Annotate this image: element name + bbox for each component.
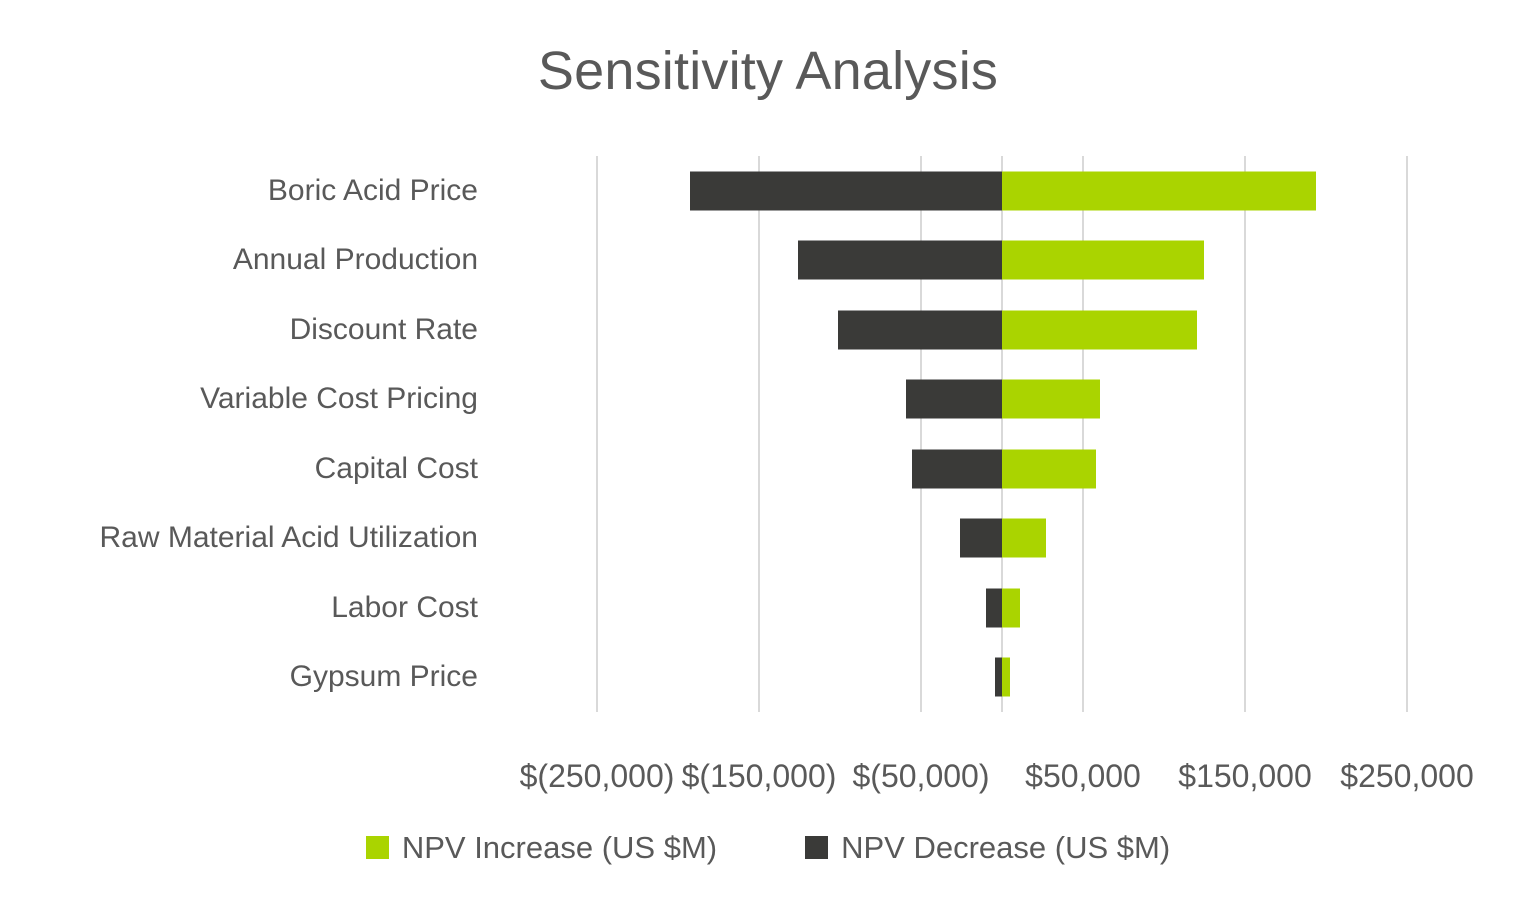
category-label: Discount Rate	[0, 295, 478, 365]
category-label: Boric Acid Price	[0, 156, 478, 226]
bar-npv-decrease[interactable]	[960, 519, 1002, 558]
category-label: Annual Production	[0, 226, 478, 296]
bar-row	[516, 643, 1407, 713]
bar-npv-decrease[interactable]	[995, 658, 1002, 697]
legend-item[interactable]: NPV Increase (US $M)	[366, 832, 717, 863]
category-label: Labor Cost	[0, 573, 478, 643]
legend-label: NPV Decrease (US $M)	[841, 832, 1170, 863]
bar-npv-decrease[interactable]	[798, 241, 1002, 280]
value-tick-label: $150,000	[1178, 752, 1311, 800]
value-tick-label: $(250,000)	[520, 752, 675, 800]
bar-rows	[516, 156, 1407, 712]
bar-npv-increase[interactable]	[1002, 658, 1010, 697]
bar-row	[516, 295, 1407, 365]
bar-npv-increase[interactable]	[1002, 241, 1204, 280]
bar-npv-increase[interactable]	[1002, 171, 1316, 210]
chart-legend: NPV Increase (US $M)NPV Decrease (US $M)	[0, 832, 1536, 863]
bar-row	[516, 365, 1407, 435]
category-label: Capital Cost	[0, 434, 478, 504]
value-axis-tick-labels: $(250,000)$(150,000)$(50,000)$50,000$150…	[0, 752, 1536, 800]
bar-npv-decrease[interactable]	[838, 310, 1002, 349]
square-swatch-icon	[366, 836, 389, 859]
bar-row	[516, 573, 1407, 643]
bar-npv-decrease[interactable]	[912, 449, 1002, 488]
legend-label: NPV Increase (US $M)	[402, 832, 717, 863]
value-tick-label: $(150,000)	[682, 752, 837, 800]
bar-npv-increase[interactable]	[1002, 449, 1096, 488]
category-label: Variable Cost Pricing	[0, 365, 478, 435]
bar-row	[516, 434, 1407, 504]
value-tick-label: $(50,000)	[853, 752, 990, 800]
category-label: Gypsum Price	[0, 643, 478, 713]
bar-row	[516, 504, 1407, 574]
chart-title: Sensitivity Analysis	[0, 42, 1536, 101]
bar-npv-increase[interactable]	[1002, 310, 1197, 349]
legend-item[interactable]: NPV Decrease (US $M)	[805, 832, 1170, 863]
category-label: Raw Material Acid Utilization	[0, 504, 478, 574]
bar-npv-decrease[interactable]	[906, 380, 1002, 419]
bar-row	[516, 156, 1407, 226]
square-swatch-icon	[805, 836, 828, 859]
bar-npv-increase[interactable]	[1002, 380, 1100, 419]
category-axis: Boric Acid PriceAnnual ProductionDiscoun…	[0, 156, 496, 712]
bar-npv-decrease[interactable]	[690, 171, 1002, 210]
bar-row	[516, 226, 1407, 296]
plot-area	[516, 156, 1407, 712]
value-tick-label: $50,000	[1025, 752, 1141, 800]
bar-npv-increase[interactable]	[1002, 588, 1020, 627]
bar-npv-decrease[interactable]	[986, 588, 1002, 627]
sensitivity-analysis-chart: Sensitivity Analysis Boric Acid PriceAnn…	[0, 0, 1536, 922]
bar-npv-increase[interactable]	[1002, 519, 1046, 558]
value-tick-label: $250,000	[1340, 752, 1473, 800]
